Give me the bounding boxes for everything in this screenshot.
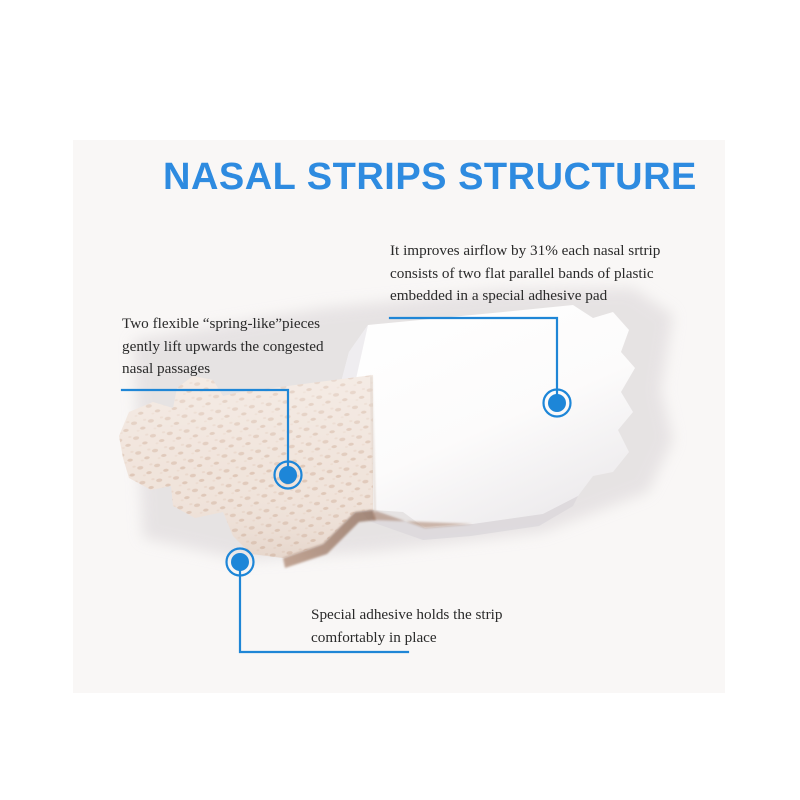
callout-text-spring-like: Two flexible “spring-like”pieces gently … bbox=[122, 313, 372, 381]
page-title: NASAL STRIPS STRUCTURE bbox=[163, 158, 697, 198]
callout-text-adhesive: Special adhesive holds the strip comfort… bbox=[311, 604, 561, 649]
callout-text-airflow: It improves airflow by 31% each nasal sr… bbox=[390, 240, 690, 308]
screenshot-root: NASAL STRIPS STRUCTURE It improves airfl… bbox=[0, 0, 800, 800]
